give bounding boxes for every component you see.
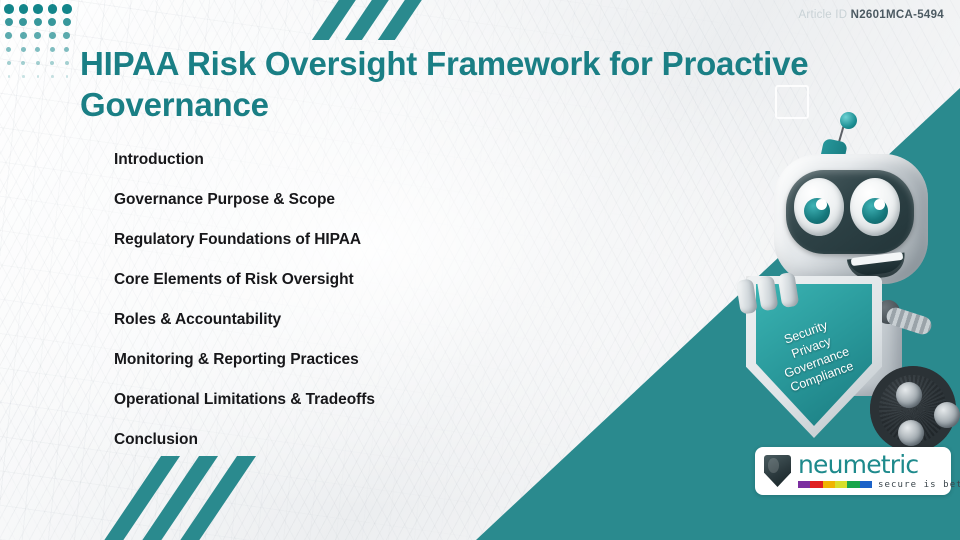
dot-grid-dot [37,75,40,78]
logo-shield-icon [764,455,791,487]
dot-grid-dot [5,18,13,26]
dot-grid-dot [63,18,71,26]
logo-bar-segment [860,481,872,488]
agenda-item: Operational Limitations & Tradeoffs [114,380,584,420]
dot-grid-dot [48,4,58,14]
article-id: Article ID N2601MCA-5494 [799,9,944,21]
neumetric-logo[interactable]: neumetric secure is better [755,447,951,495]
agenda-item: Regulatory Foundations of HIPAA [114,220,584,260]
logo-bar-segment [798,481,810,488]
agenda-item: Roles & Accountability [114,300,584,340]
dot-grid-dot [65,61,69,65]
dot-grid-dot [51,75,54,78]
agenda-item: Conclusion [114,420,584,460]
dot-grid-dot [21,61,25,65]
dot-grid-dot [8,75,11,78]
dot-grid-dot [35,47,40,52]
dot-grid-dot [50,47,55,52]
logo-bar-segment [835,481,847,488]
dot-grid-dot [7,61,11,65]
logo-bottom-row: secure is better [798,480,960,490]
robot-wheel-hub-2 [898,420,924,446]
dot-grid-dot [6,47,11,52]
dot-grid-dot [20,32,27,39]
dot-grid-dot [34,18,42,26]
logo-rainbow-bar [798,481,872,488]
logo-tagline: secure is better [878,480,960,490]
dot-grid-dot [64,47,69,52]
dot-grid-dot [50,61,54,65]
agenda-item: Introduction [114,140,584,180]
robot-wheel-hub-1 [896,382,922,408]
robot-antenna-ball-icon [840,112,857,129]
logo-bar-segment [810,481,822,488]
dot-grid-dot [4,4,14,14]
diagonal-stripes-top [322,0,438,40]
robot-eye-right [850,178,900,236]
diagonal-stripes-bottom [128,460,258,540]
dot-grid-dot [21,47,26,52]
dot-grid-dot [62,4,72,14]
dot-grid-dot [49,32,56,39]
robot-eye-glint-right [874,199,885,210]
article-id-value: N2601MCA-5494 [851,9,944,21]
robot-eye-left [794,178,844,236]
article-id-label: Article ID [799,9,848,21]
robot-wheel-hub-3 [934,402,960,428]
dot-grid-dot [19,4,29,14]
dot-grid-dot [33,4,43,14]
dot-grid-dot [36,61,40,65]
logo-text-group: neumetric secure is better [798,453,960,490]
robot-mascot: SecurityPrivacyGovernanceCompliance [728,104,960,424]
robot-pupil-left [804,198,830,224]
dot-grid-dot [22,75,25,78]
agenda-item: Monitoring & Reporting Practices [114,340,584,380]
dot-grid-dot [66,75,69,78]
dot-grid-dot [63,32,70,39]
dot-grid-dot [19,18,27,26]
robot-eye-glint-left [816,199,827,210]
agenda-list: IntroductionGovernance Purpose & ScopeRe… [114,140,584,460]
logo-bar-segment [847,481,859,488]
dot-grid-dot [48,18,56,26]
dot-grid-dot [5,32,12,39]
agenda-item: Core Elements of Risk Oversight [114,260,584,300]
agenda-item: Governance Purpose & Scope [114,180,584,220]
presentation-slide: Article ID N2601MCA-5494 HIPAA Risk Over… [0,0,960,540]
logo-wordmark: neumetric [798,453,960,477]
dot-grid-dot [34,32,41,39]
robot-pupil-right [862,198,888,224]
logo-bar-segment [823,481,835,488]
